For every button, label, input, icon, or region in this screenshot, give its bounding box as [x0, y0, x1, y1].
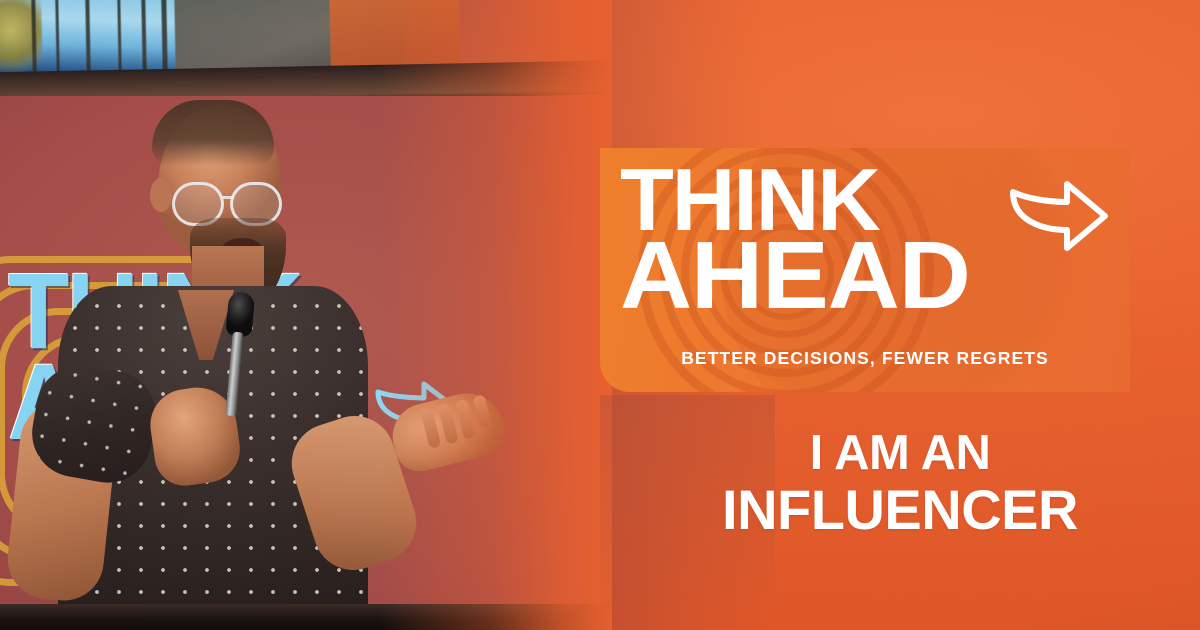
curved-arrow-right-icon [1005, 176, 1113, 256]
microphone-handle [225, 332, 243, 417]
headline-line-1: I AM AN [600, 430, 1200, 477]
slide-headline: I AM AN INFLUENCER [600, 430, 1200, 537]
speaker-figure [0, 0, 612, 630]
stage-floor [0, 604, 612, 630]
logo-tagline: BETTER DECISIONS, FEWER REGRETS [600, 348, 1130, 369]
speaker-hair [152, 100, 274, 166]
slide-canvas: THINK AHEAD RETS [0, 0, 1200, 630]
photo-contents: THINK AHEAD RETS [0, 0, 612, 630]
headline-line-2: INFLUENCER [600, 483, 1200, 537]
speaker-photo: THINK AHEAD RETS [0, 0, 612, 630]
microphone-capsule [225, 291, 255, 337]
speaker-right-hand [386, 385, 511, 476]
glasses-bridge [222, 196, 234, 199]
